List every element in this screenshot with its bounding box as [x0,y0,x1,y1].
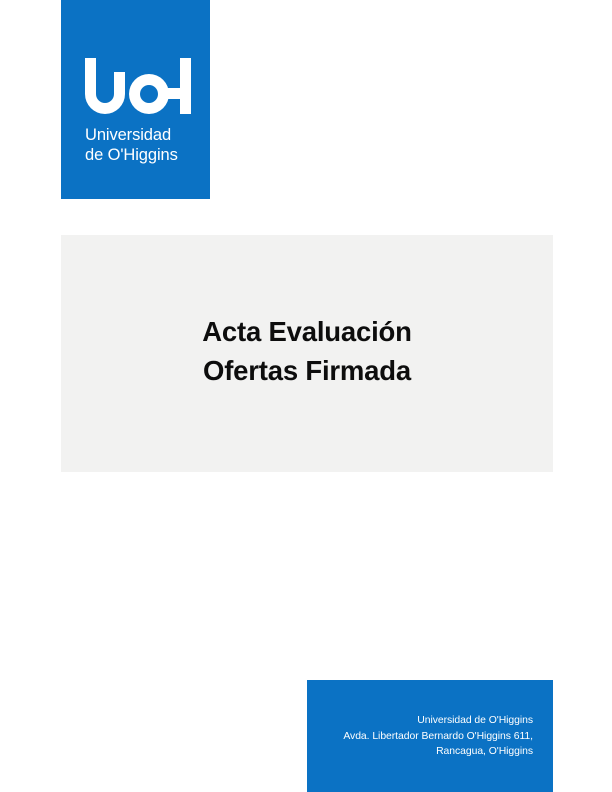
footer-address-block: Universidad de O'Higgins Avda. Libertado… [307,680,553,792]
footer-address-line-1: Universidad de O'Higgins [317,713,533,729]
uoh-logo-icon [85,58,191,114]
document-title-line-2: Ofertas Firmada [61,351,553,390]
brand-logo-block: Universidad de O'Higgins [61,0,210,199]
title-panel: Acta Evaluación Ofertas Firmada [61,235,553,472]
brand-wordmark-line-2: de O'Higgins [85,145,205,165]
brand-wordmark: Universidad de O'Higgins [85,125,205,165]
brand-wordmark-line-1: Universidad [85,125,205,145]
footer-address: Universidad de O'Higgins Avda. Libertado… [317,713,533,760]
document-title: Acta Evaluación Ofertas Firmada [61,312,553,396]
footer-address-line-2: Avda. Libertador Bernardo O'Higgins 611, [317,729,533,745]
footer-address-line-3: Rancagua, O'Higgins [317,744,533,760]
document-title-line-1: Acta Evaluación [61,312,553,351]
cover-page: Universidad de O'Higgins Acta Evaluación… [0,0,612,792]
